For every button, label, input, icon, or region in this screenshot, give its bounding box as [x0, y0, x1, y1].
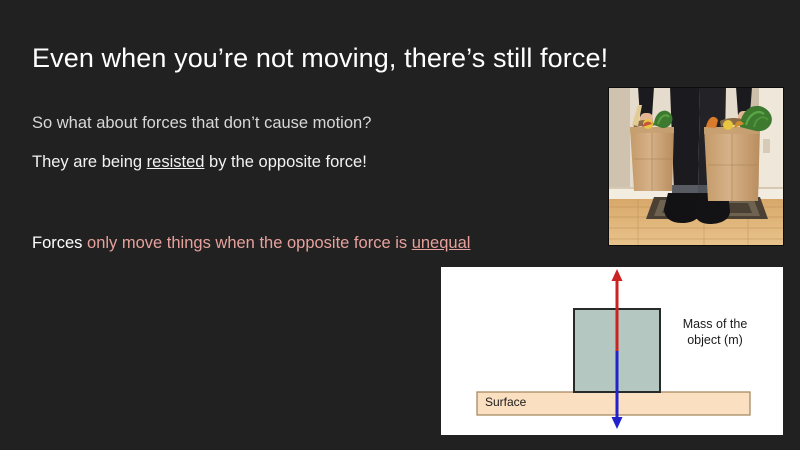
body-text-line-3: Forces only move things when the opposit…: [32, 232, 470, 254]
body-line-2-emphasis-resisted: resisted: [147, 153, 205, 171]
photo-illustration: [608, 87, 784, 246]
force-diagram: Mass of the object (m) Surface: [441, 267, 783, 435]
body-text-line-1: So what about forces that don’t cause mo…: [32, 112, 371, 134]
body-line-3-emphasis-unequal: unequal: [412, 234, 471, 252]
slide-canvas: Even when you’re not moving, there’s sti…: [0, 0, 800, 450]
body-text-line-2: They are being resisted by the opposite …: [32, 151, 367, 173]
mass-of-object-label: Mass of the object (m): [659, 316, 771, 348]
surface-label: Surface: [485, 394, 526, 410]
page-title: Even when you’re not moving, there’s sti…: [32, 42, 632, 74]
body-line-2-suffix: by the opposite force!: [204, 153, 366, 171]
person-holding-grocery-bags-photo: [608, 87, 784, 246]
body-line-3-prefix: Forces: [32, 234, 87, 252]
body-line-3-accent: only move things when the opposite force…: [87, 234, 412, 252]
body-line-2-prefix: They are being: [32, 153, 147, 171]
